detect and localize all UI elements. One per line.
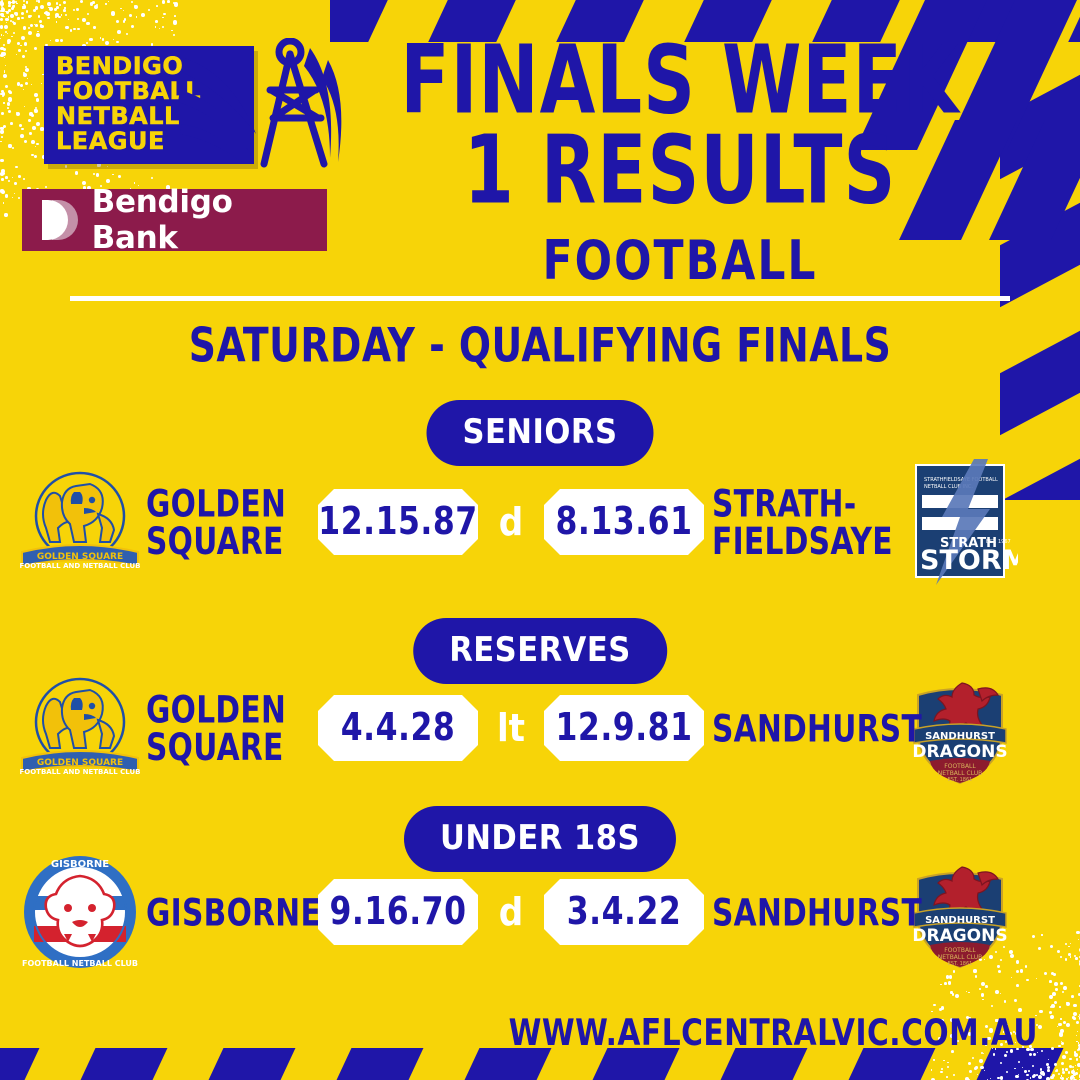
results-poster: BENDIGO FOOTBALL NETBALL LEAGUE (0, 0, 1080, 1080)
sponsor-name: Bendigo Bank (92, 184, 327, 256)
match-row: GOLDEN SQUARE FOOTBALL AND NETBALL CLUB … (0, 668, 1080, 788)
home-team-crest: GOLDEN SQUARE FOOTBALL AND NETBALL CLUB (14, 466, 146, 578)
svg-text:EST. 1861: EST. 1861 (948, 777, 973, 783)
headline-line-1: FINALS WEEK (330, 36, 1030, 126)
svg-text:FOOTBALL AND NETBALL CLUB: FOOTBALL AND NETBALL CLUB (20, 768, 141, 776)
svg-text:FOOTBALL AND NETBALL CLUB: FOOTBALL AND NETBALL CLUB (20, 562, 141, 570)
bendigo-bank-b-icon (42, 200, 78, 240)
svg-text:SANDHURST: SANDHURST (925, 915, 995, 926)
home-team-score: 9.16.70 (318, 879, 478, 945)
result-indicator: d (478, 500, 544, 544)
subtitle: SATURDAY - QUALIFYING FINALS (0, 318, 1080, 373)
svg-text:FOOTBALL: FOOTBALL (944, 763, 976, 770)
headline-line-2: 1 RESULTS (330, 126, 1030, 216)
golden-square-bulldogs-crest: GOLDEN SQUARE FOOTBALL AND NETBALL CLUB (16, 672, 144, 784)
home-team-score: 4.4.28 (318, 695, 478, 761)
match-row: GISBORNE FOOTBALL NETBALL CLUB GISBORNE9… (0, 852, 1080, 972)
footer-url[interactable]: WWW.AFLCENTRALVIC.COM.AU (509, 1011, 1038, 1054)
svg-text:STORM: STORM (920, 545, 1018, 576)
svg-text:GISBORNE: GISBORNE (51, 859, 109, 870)
sponsor-bendigo-bank[interactable]: Bendigo Bank (22, 189, 327, 251)
gisborne-bulldogs-crest: GISBORNE FOOTBALL NETBALL CLUB (20, 852, 140, 972)
result-indicator: lt (478, 706, 544, 750)
headline: FINALS WEEK 1 RESULTS FOOTBALL (330, 36, 1030, 284)
home-team-name: GOLDEN SQUARE (146, 484, 318, 559)
svg-text:STRATHFIELDSAYE FOOTBALL: STRATHFIELDSAYE FOOTBALL (924, 477, 998, 483)
svg-text:NETBALL CLUB: NETBALL CLUB (938, 954, 983, 961)
away-team-score: 12.9.81 (544, 695, 704, 761)
match-row: GOLDEN SQUARE FOOTBALL AND NETBALL CLUB … (0, 462, 1080, 582)
poppet-head-icon (178, 38, 348, 178)
away-team-name: SANDHURST (704, 709, 894, 747)
headline-line-3: FOOTBALL (330, 234, 1030, 289)
golden-square-bulldogs-crest: GOLDEN SQUARE FOOTBALL AND NETBALL CLUB (16, 466, 144, 578)
svg-text:SANDHURST: SANDHURST (925, 731, 995, 742)
svg-text:NETBALL CLUB: NETBALL CLUB (938, 770, 983, 777)
svg-text:FOOTBALL: FOOTBALL (944, 947, 976, 954)
strathfieldsaye-storm-crest: STRATHFIELDSAYE FOOTBALL NETBALL CLUB IN… (902, 459, 1018, 585)
away-team-name: STRATH- FIELDSAYE (704, 484, 894, 559)
grade-badge-seniors: SENIORS (427, 400, 654, 466)
away-team-score: 3.4.22 (544, 879, 704, 945)
result-indicator: d (478, 890, 544, 934)
svg-text:EST. 1861: EST. 1861 (948, 961, 973, 967)
home-team-name: GISBORNE (146, 893, 318, 931)
svg-text:GOLDEN SQUARE: GOLDEN SQUARE (37, 758, 123, 768)
svg-text:FOOTBALL NETBALL CLUB: FOOTBALL NETBALL CLUB (22, 959, 138, 968)
home-team-crest: GISBORNE FOOTBALL NETBALL CLUB (14, 852, 146, 972)
away-team-name: SANDHURST (704, 893, 894, 931)
home-team-crest: GOLDEN SQUARE FOOTBALL AND NETBALL CLUB (14, 672, 146, 784)
away-team-score: 8.13.61 (544, 489, 704, 555)
home-team-name: GOLDEN SQUARE (146, 690, 318, 765)
away-team-crest: STRATHFIELDSAYE FOOTBALL NETBALL CLUB IN… (894, 459, 1026, 585)
bfnl-logo: BENDIGO FOOTBALL NETBALL LEAGUE (28, 38, 348, 168)
svg-text:GOLDEN SQUARE: GOLDEN SQUARE (37, 552, 123, 562)
home-team-score: 12.15.87 (318, 489, 478, 555)
divider-line (70, 296, 1010, 301)
